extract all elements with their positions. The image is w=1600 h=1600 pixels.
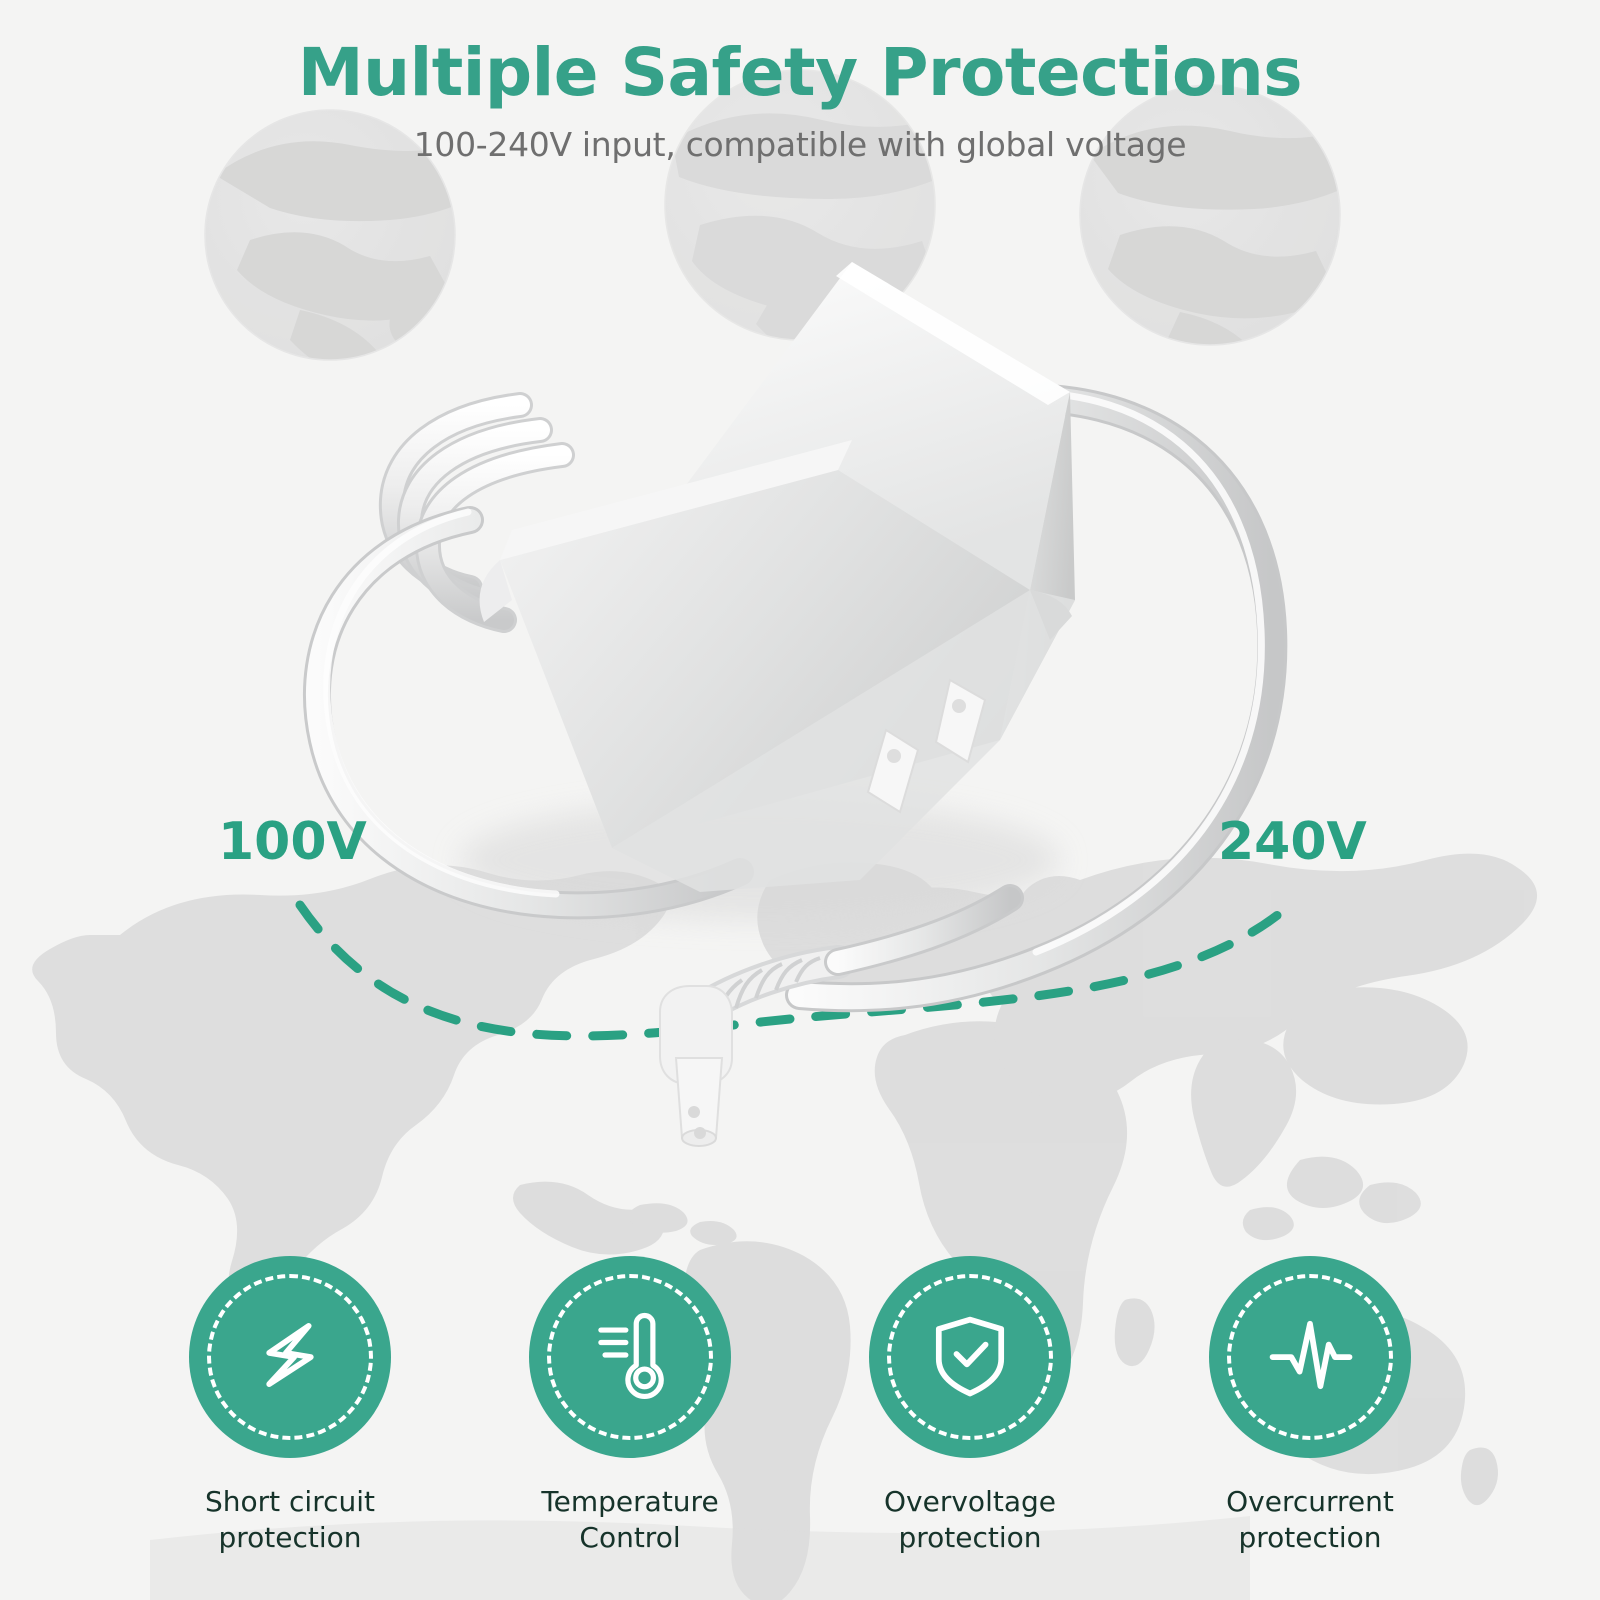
feature-badge <box>529 1256 731 1458</box>
voltage-label-min: 100V <box>218 812 367 872</box>
feature-label: Short circuit protection <box>205 1484 375 1556</box>
feature-label: Temperature Control <box>541 1484 718 1556</box>
plug-prongs <box>868 680 985 812</box>
header: Multiple Safety Protections 100-240V inp… <box>0 38 1600 164</box>
product-infographic: Multiple Safety Protections 100-240V inp… <box>0 0 1600 1600</box>
feature-label: Overvoltage protection <box>884 1484 1056 1556</box>
lightning-bolt-icon <box>238 1303 342 1412</box>
thermometer-icon <box>578 1303 682 1412</box>
dc-connector <box>660 958 838 1146</box>
feature-badge <box>189 1256 391 1458</box>
feature-badge <box>1209 1256 1411 1458</box>
feature-label: Overcurrent protection <box>1226 1484 1394 1556</box>
page-title: Multiple Safety Protections <box>0 38 1600 107</box>
feature-list: Short circuit protection Temperature Con… <box>0 1256 1600 1556</box>
feature-item-overvoltage: Overvoltage protection <box>800 1256 1140 1556</box>
pulse-waveform-icon <box>1258 1303 1362 1412</box>
feature-item-short-circuit: Short circuit protection <box>120 1256 460 1556</box>
feature-item-temperature: Temperature Control <box>460 1256 800 1556</box>
page-subtitle: 100-240V input, compatible with global v… <box>0 125 1600 164</box>
voltage-label-max: 240V <box>1218 812 1367 872</box>
feature-badge <box>869 1256 1071 1458</box>
shield-check-icon <box>918 1303 1022 1412</box>
feature-item-overcurrent: Overcurrent protection <box>1140 1256 1480 1556</box>
